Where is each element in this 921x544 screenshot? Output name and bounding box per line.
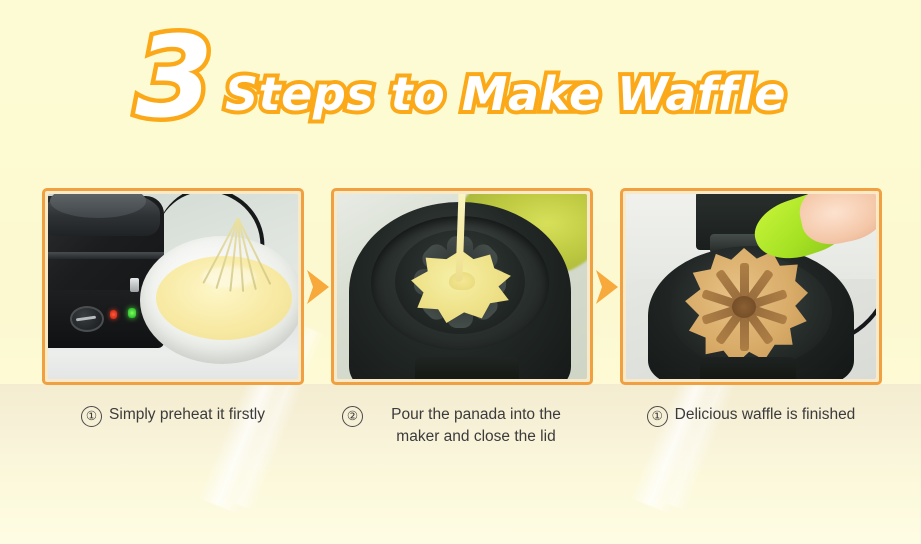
step-image-panel-3 bbox=[620, 188, 882, 385]
photo-finished-waffle bbox=[626, 194, 876, 379]
power-led-red bbox=[110, 310, 117, 319]
promo-banner: 3 Steps to Make Waffle bbox=[0, 0, 921, 543]
step-caption-3: ① Delicious waffle is finished bbox=[620, 404, 882, 427]
temperature-knob bbox=[70, 306, 104, 332]
step-caption-1: ① Simply preheat it firstly bbox=[42, 404, 304, 427]
step-count-numeral: 3 bbox=[135, 22, 213, 134]
step-caption-text-1: Simply preheat it firstly bbox=[109, 404, 265, 426]
step-marker-1: ① bbox=[81, 406, 102, 427]
whisk bbox=[196, 218, 278, 292]
step-caption-2: ② Pour the panada into the maker and clo… bbox=[331, 404, 593, 449]
step-image-panel-2 bbox=[331, 188, 593, 385]
step-marker-3: ① bbox=[647, 406, 668, 427]
waffle-center-hub bbox=[732, 296, 756, 318]
step-caption-text-3: Delicious waffle is finished bbox=[675, 404, 856, 426]
step-marker-2: ② bbox=[342, 406, 363, 427]
waffle-maker-seam bbox=[48, 252, 164, 259]
title-text: Steps to Make Waffle bbox=[225, 67, 786, 121]
waffle-maker-stand bbox=[415, 357, 519, 379]
steps-caption-row: ① Simply preheat it firstly ② Pour the p… bbox=[42, 404, 882, 480]
step-image-panel-1 bbox=[42, 188, 304, 385]
footer-gradient-band bbox=[0, 470, 921, 544]
step-caption-text-2: Pour the panada into the maker and close… bbox=[370, 404, 582, 449]
ready-led-green bbox=[128, 308, 136, 318]
photo-preheat-waffle-maker bbox=[48, 194, 298, 379]
power-switch bbox=[130, 278, 139, 292]
steps-image-row bbox=[42, 188, 882, 385]
step-caption-text-2-line2: maker and close the lid bbox=[396, 428, 555, 445]
waffle-maker-stand bbox=[700, 357, 796, 379]
page-title: 3 Steps to Make Waffle bbox=[0, 28, 921, 140]
step-arrow-1 bbox=[305, 267, 331, 307]
photo-pour-batter bbox=[337, 194, 587, 379]
step-arrow-2 bbox=[594, 267, 620, 307]
step-caption-text-2-line1: Pour the panada into the bbox=[391, 406, 561, 423]
